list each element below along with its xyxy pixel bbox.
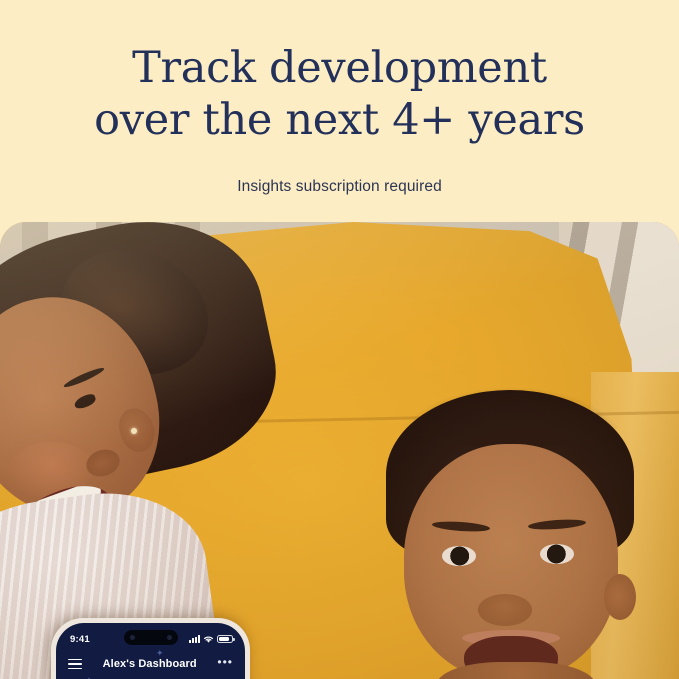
hamburger-menu-icon[interactable] bbox=[68, 659, 82, 670]
app-screen: ✦ ✦ ✦ ✦ 9:41 bbox=[56, 623, 245, 679]
dashboard-title: Alex's Dashboard bbox=[103, 658, 197, 670]
hero-section: Track development over the next 4+ years… bbox=[0, 0, 679, 222]
status-bar-time: 9:41 bbox=[70, 634, 90, 645]
headline-line-2: over the next 4+ years bbox=[0, 94, 679, 146]
wifi-icon bbox=[203, 635, 214, 644]
dynamic-island bbox=[124, 630, 178, 645]
headline-line-1: Track development bbox=[132, 43, 547, 93]
status-bar-indicators bbox=[189, 635, 233, 644]
face-id-sensor-icon bbox=[167, 635, 172, 640]
page-title: Track development over the next 4+ years bbox=[0, 0, 679, 146]
photo-lighting-overlay bbox=[0, 222, 679, 679]
subscription-note: Insights subscription required bbox=[0, 178, 679, 196]
battery-icon bbox=[217, 635, 233, 643]
status-bar: 9:41 bbox=[56, 623, 245, 649]
more-options-icon[interactable]: ••• bbox=[217, 662, 233, 667]
promo-slide: Track development over the next 4+ years… bbox=[0, 0, 679, 679]
cellular-bars-icon bbox=[189, 635, 200, 643]
phone-mockup: ✦ ✦ ✦ ✦ 9:41 bbox=[51, 618, 250, 679]
app-navbar: Alex's Dashboard ••• bbox=[56, 651, 245, 677]
lifestyle-photo: ✦ ✦ ✦ ✦ 9:41 bbox=[0, 222, 679, 679]
front-camera-icon bbox=[130, 635, 135, 640]
